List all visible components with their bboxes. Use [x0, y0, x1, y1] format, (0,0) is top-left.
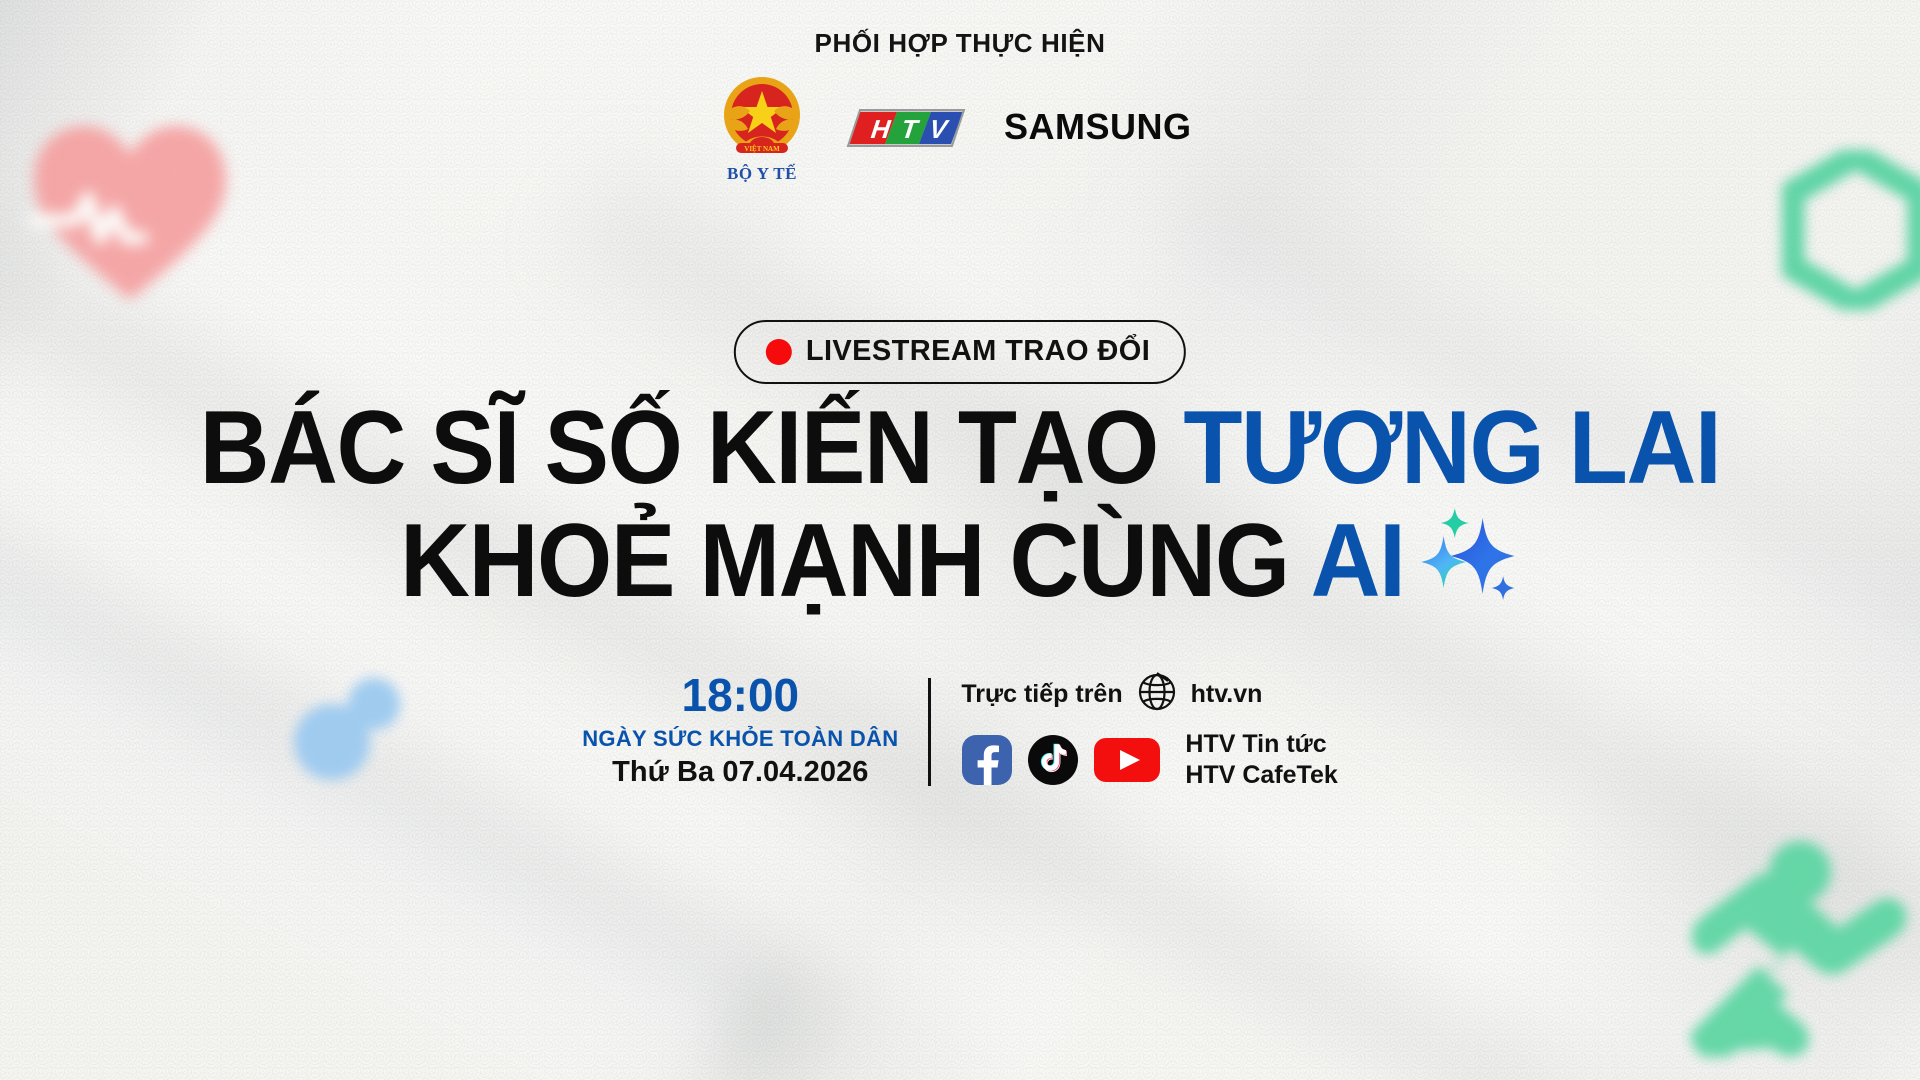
- website-url[interactable]: htv.vn: [1191, 680, 1263, 709]
- headline-line1-black: BÁC SĨ SỐ KIẾN TẠO: [200, 390, 1184, 506]
- schedule-block: 18:00 NGÀY SỨC KHỎE TOÀN DÂN Thứ Ba 07.0…: [582, 672, 928, 789]
- htv-logo-icon: H T V: [846, 107, 966, 149]
- svg-text:VIỆT NAM: VIỆT NAM: [744, 145, 780, 153]
- social-row: HTV Tin tức HTV CafeTek: [961, 729, 1337, 790]
- partner-logo-row: VIỆT NAM BỘ Y TẾ H T V: [716, 71, 1204, 184]
- social-icon-group: [961, 734, 1161, 786]
- footer-info: 18:00 NGÀY SỨC KHỎE TOÀN DÂN Thứ Ba 07.0…: [0, 672, 1920, 790]
- headline-line2-accent: AI: [1311, 503, 1405, 619]
- samsung-text: SAMSUNG: [1004, 108, 1192, 147]
- schedule-date: Thứ Ba 07.04.2026: [582, 756, 898, 789]
- globe-icon: [1137, 672, 1177, 717]
- headline-line2-black: KHOẺ MẠNH CÙNG: [400, 503, 1310, 619]
- watch-on-label: Trực tiếp trên: [961, 680, 1122, 709]
- website-row: Trực tiếp trên htv.vn: [961, 672, 1337, 717]
- youtube-icon[interactable]: [1093, 734, 1161, 786]
- schedule-caption: NGÀY SỨC KHỎE TOÀN DÂN: [582, 726, 898, 752]
- running-person-icon: [1688, 832, 1918, 1057]
- samsung-wordmark-icon: SAMSUNG: [1004, 108, 1204, 148]
- channel-name: HTV Tin tức: [1185, 729, 1337, 760]
- htv-logo: H T V: [846, 107, 966, 149]
- livestream-badge[interactable]: LIVESTREAM TRAO ĐỔI: [734, 320, 1186, 384]
- sparkles-icon: [1418, 504, 1520, 625]
- ministry-of-health-caption: BỘ Y TẾ: [727, 164, 797, 184]
- cooperation-label: PHỐI HỢP THỰC HIỆN: [815, 28, 1106, 59]
- headline-line-2: KHOẺ MẠNH CÙNG AI: [67, 504, 1853, 625]
- channels-block: Trực tiếp trên htv.vn: [931, 672, 1337, 790]
- page-title: BÁC SĨ SỐ KIẾN TẠO TƯƠNG LAI KHOẺ MẠNH C…: [67, 392, 1853, 626]
- vietnam-emblem-icon: VIỆT NAM: [716, 71, 808, 163]
- channel-name-list: HTV Tin tức HTV CafeTek: [1185, 729, 1337, 790]
- schedule-time: 18:00: [582, 672, 898, 718]
- headline-line-1: BÁC SĨ SỐ KIẾN TẠO TƯƠNG LAI: [67, 392, 1853, 504]
- header: PHỐI HỢP THỰC HIỆN VIỆT NAM BỘ Y TẾ: [0, 28, 1920, 184]
- livestream-badge-label: LIVESTREAM TRAO ĐỔI: [806, 335, 1150, 368]
- facebook-icon[interactable]: [961, 734, 1013, 786]
- tiktok-icon[interactable]: [1027, 734, 1079, 786]
- ministry-of-health-logo: VIỆT NAM BỘ Y TẾ: [716, 71, 808, 184]
- samsung-logo: SAMSUNG: [1004, 107, 1204, 149]
- headline-line1-accent: TƯƠNG LAI: [1183, 390, 1720, 506]
- channel-name: HTV CafeTek: [1185, 760, 1337, 791]
- live-dot-icon: [766, 339, 792, 365]
